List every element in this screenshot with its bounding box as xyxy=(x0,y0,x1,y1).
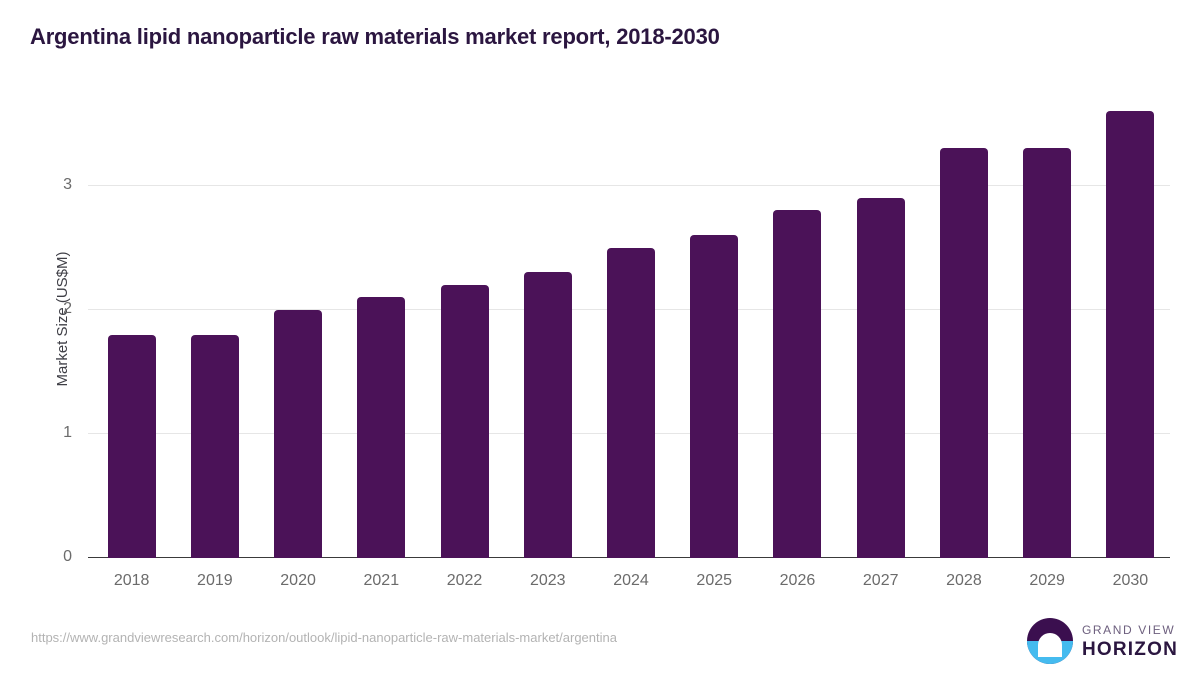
bar[interactable] xyxy=(441,285,489,558)
bar[interactable] xyxy=(191,335,239,558)
logo-ray-1 xyxy=(1040,647,1060,650)
logo-wordmark: GRAND VIEW HORIZON xyxy=(1082,624,1178,659)
grand-view-horizon-logo: GRAND VIEW HORIZON xyxy=(1027,618,1178,664)
bar[interactable] xyxy=(940,148,988,558)
x-tick-label: 2024 xyxy=(613,572,649,590)
bar-group: 2022 xyxy=(441,80,489,558)
x-tick-label: 2030 xyxy=(1113,572,1149,590)
source-url[interactable]: https://www.grandviewresearch.com/horizo… xyxy=(31,630,617,645)
page-title: Argentina lipid nanoparticle raw materia… xyxy=(30,24,720,50)
horizon-sun-icon xyxy=(1027,618,1073,664)
bar-group: 2030 xyxy=(1106,80,1154,558)
x-tick-label: 2019 xyxy=(197,572,233,590)
bar[interactable] xyxy=(690,235,738,558)
x-tick-label: 2026 xyxy=(780,572,816,590)
x-tick-label: 2029 xyxy=(1029,572,1065,590)
bar-group: 2025 xyxy=(690,80,738,558)
bar-group: 2023 xyxy=(524,80,572,558)
bar[interactable] xyxy=(773,210,821,558)
bar-group: 2028 xyxy=(940,80,988,558)
x-tick-label: 2023 xyxy=(530,572,566,590)
plot-area: Market Size (US$M) 0123 2018201920202021… xyxy=(88,80,1170,558)
x-tick-label: 2022 xyxy=(447,572,483,590)
bar-group: 2021 xyxy=(357,80,405,558)
y-tick-label: 3 xyxy=(63,176,72,194)
bar[interactable] xyxy=(108,335,156,558)
x-tick-label: 2018 xyxy=(114,572,150,590)
x-tick-label: 2028 xyxy=(946,572,982,590)
bar-group: 2029 xyxy=(1023,80,1071,558)
x-tick-label: 2020 xyxy=(280,572,316,590)
bar-group: 2018 xyxy=(108,80,156,558)
bar[interactable] xyxy=(274,310,322,558)
bar[interactable] xyxy=(857,198,905,558)
bar[interactable] xyxy=(607,248,655,558)
logo-line-horizon: HORIZON xyxy=(1082,640,1178,659)
bar-group: 2026 xyxy=(773,80,821,558)
y-axis-title: Market Size (US$M) xyxy=(50,80,74,558)
logo-line-grand-view: GRAND VIEW xyxy=(1082,624,1178,636)
bar-group: 2020 xyxy=(274,80,322,558)
bar-group: 2024 xyxy=(607,80,655,558)
bar[interactable] xyxy=(1023,148,1071,558)
y-tick-label: 0 xyxy=(63,548,72,566)
bar[interactable] xyxy=(357,297,405,558)
bar[interactable] xyxy=(1106,111,1154,558)
y-tick-label: 1 xyxy=(63,424,72,442)
bar-group: 2019 xyxy=(191,80,239,558)
x-tick-label: 2025 xyxy=(696,572,732,590)
bar-group: 2027 xyxy=(857,80,905,558)
x-tick-label: 2021 xyxy=(364,572,400,590)
y-tick-label: 2 xyxy=(63,300,72,318)
chart-page: Argentina lipid nanoparticle raw materia… xyxy=(0,0,1200,675)
bars-layer: 2018201920202021202220232024202520262027… xyxy=(88,80,1170,558)
x-tick-label: 2027 xyxy=(863,572,899,590)
bar[interactable] xyxy=(524,272,572,558)
logo-ray-2 xyxy=(1043,652,1056,655)
